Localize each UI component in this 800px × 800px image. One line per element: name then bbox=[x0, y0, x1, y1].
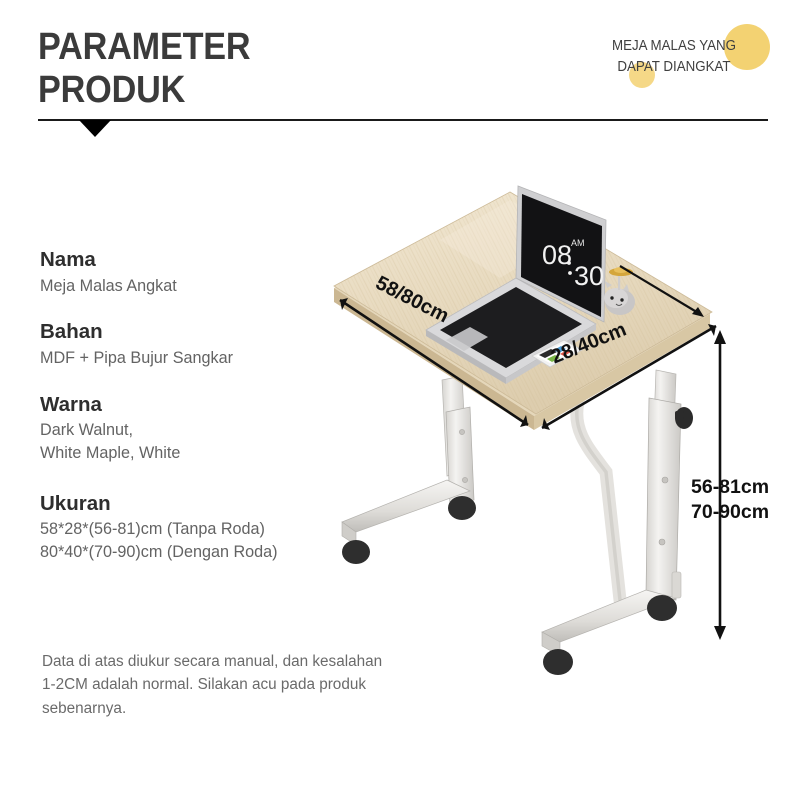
dimension-height-label: 56-81cm 70-90cm bbox=[691, 475, 769, 524]
product-illustration: 08 AM 30 bbox=[320, 180, 800, 680]
desk-drawing: 08 AM 30 bbox=[320, 180, 800, 680]
page-header: PARAMETER PRODUK MEJA MALAS YANG DAPAT D… bbox=[0, 0, 800, 140]
laptop-clock-meridiem: AM bbox=[571, 238, 585, 248]
tagline-group: MEJA MALAS YANG DAPAT DIANGKAT bbox=[574, 30, 774, 96]
desk-leg-left bbox=[342, 376, 476, 564]
caster-wheel bbox=[342, 540, 370, 564]
caster-wheel bbox=[448, 496, 476, 520]
tagline-text: MEJA MALAS YANG DAPAT DIANGKAT bbox=[582, 36, 766, 77]
page-title: PARAMETER PRODUK bbox=[38, 26, 250, 112]
laptop-clock-minute: 30 bbox=[574, 261, 604, 291]
laptop-clock-hour: 08 bbox=[542, 240, 572, 270]
header-divider bbox=[38, 119, 768, 121]
caster-wheel bbox=[647, 595, 677, 621]
caret-down-icon bbox=[79, 120, 111, 137]
caster-wheel bbox=[543, 649, 573, 675]
